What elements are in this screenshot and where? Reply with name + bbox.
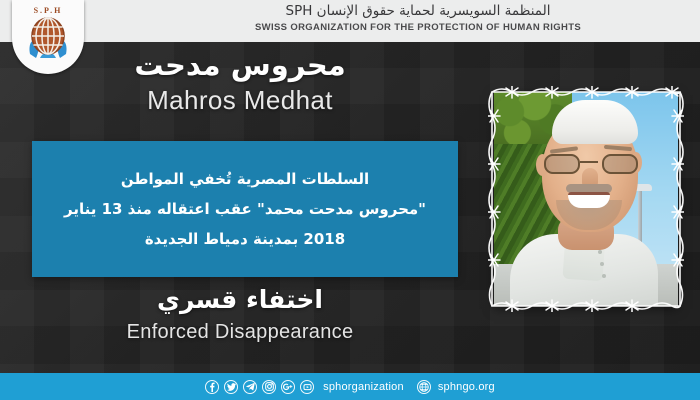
google-plus-icon[interactable] [281,380,295,394]
twitter-icon[interactable] [224,380,238,394]
photo-cap [552,100,638,144]
human-rights-poster: المنظمة السويسرية لحماية حقوق الإنسان SP… [0,0,700,400]
subject-name-english: Mahros Medhat [20,84,460,117]
photo-lens-left [544,154,580,174]
organization-title-arabic: المنظمة السويسرية لحماية حقوق الإنسان SP… [148,2,688,21]
statement-line-3: 2018 بمدينة دمياط الجديدة [64,224,426,254]
subject-name-block: محروس مدحت Mahros Medhat [20,46,460,117]
photo-button [598,250,602,254]
violation-category-english: Enforced Disappearance [20,318,460,347]
globe-icon [417,380,431,394]
telegram-icon[interactable] [243,380,257,394]
organization-title: المنظمة السويسرية لحماية حقوق الإنسان SP… [148,2,688,35]
photo-smile [568,192,610,208]
photo-button [602,274,606,278]
violation-category-arabic: اختفاء قسري [20,282,460,318]
statement-line-2: "محروس مدحت محمد" عقب اعتقاله منذ 13 ينا… [64,194,426,224]
statement-line-1: السلطات المصرية تُخفي المواطن [64,164,426,194]
social-handle[interactable]: sphorganization [323,381,404,393]
subject-photo-image [494,92,678,306]
photo-glasses-bridge [580,161,598,163]
footer-bar: sphorganization sphngo.org [0,373,700,400]
subject-name-arabic: محروس مدحت [20,46,460,84]
youtube-icon[interactable] [300,380,314,394]
instagram-icon[interactable] [262,380,276,394]
header-band: المنظمة السويسرية لحماية حقوق الإنسان SP… [0,0,700,42]
photo-lens-right [602,154,638,174]
photo-button [600,262,604,266]
violation-category: اختفاء قسري Enforced Disappearance [20,282,460,347]
statement-text: السلطات المصرية تُخفي المواطن "محروس مدح… [48,164,442,254]
facebook-icon[interactable] [205,380,219,394]
subject-photo [488,86,684,312]
statement-box: السلطات المصرية تُخفي المواطن "محروس مدح… [32,141,458,277]
organization-title-english: SWISS ORGANIZATION FOR THE PROTECTION OF… [148,21,688,35]
website-url[interactable]: sphngo.org [438,381,495,393]
